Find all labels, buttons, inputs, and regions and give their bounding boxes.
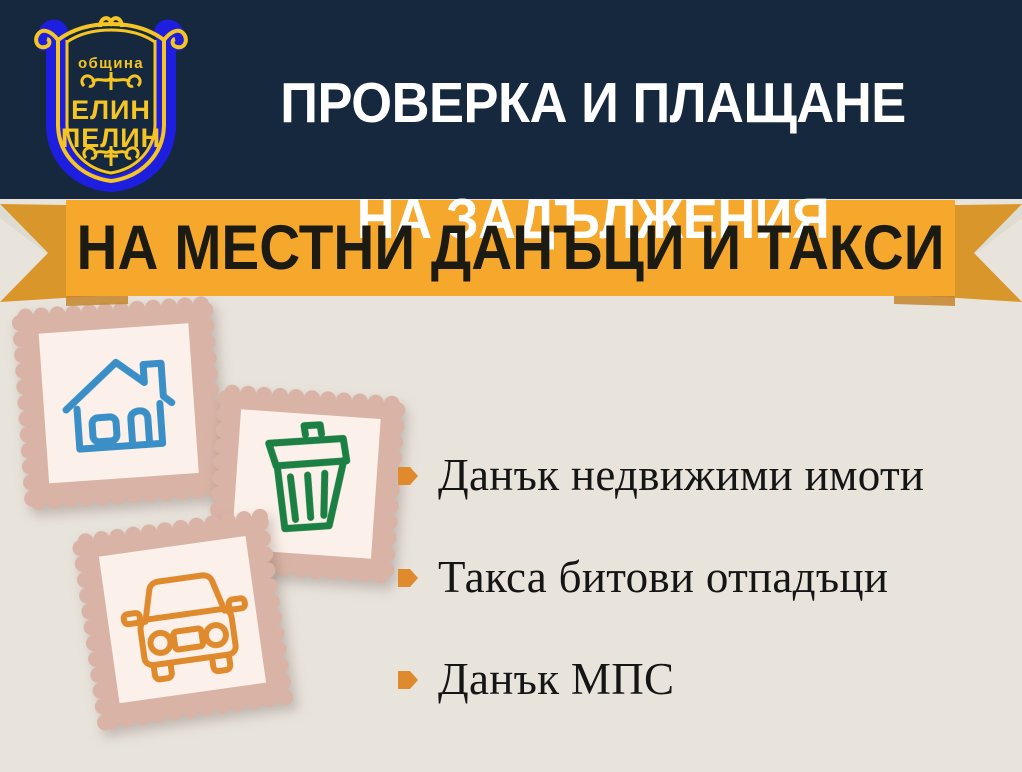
stamp-card-group bbox=[0, 290, 420, 772]
list-item: Данък МПС bbox=[398, 628, 1008, 730]
stamp-card-property bbox=[11, 295, 235, 519]
list-item: Данък недвижими имоти bbox=[398, 424, 1008, 526]
stamp-card-vehicle bbox=[71, 507, 304, 740]
page-title-line-1: ПРОВЕРКА И ПЛАЩАНЕ bbox=[211, 74, 975, 132]
arrow-bullet-icon bbox=[398, 465, 418, 487]
tax-type-list: Данък недвижими имоти Такса битови отпад… bbox=[398, 424, 1008, 730]
municipality-logo: община ЕЛИН ПЕЛИН bbox=[22, 6, 200, 192]
arrow-bullet-icon bbox=[398, 669, 418, 691]
list-item-label: Данък недвижими имоти bbox=[438, 450, 924, 500]
arrow-bullet-icon bbox=[398, 567, 418, 589]
list-item-label: Такса битови отпадъци bbox=[438, 552, 888, 602]
poster-root: ПРОВЕРКА И ПЛАЩАНЕ НА ЗАДЪЛЖЕНИЯ община bbox=[0, 0, 1022, 772]
list-item: Такса битови отпадъци bbox=[398, 526, 1008, 628]
ribbon-label: НА МЕСТНИ ДАНЪЦИ И ТАКСИ bbox=[110, 200, 910, 296]
logo-word-line-1: ЕЛИН bbox=[71, 95, 151, 125]
list-item-label: Данък МПС bbox=[438, 654, 674, 704]
logo-word-top: община bbox=[78, 55, 144, 72]
